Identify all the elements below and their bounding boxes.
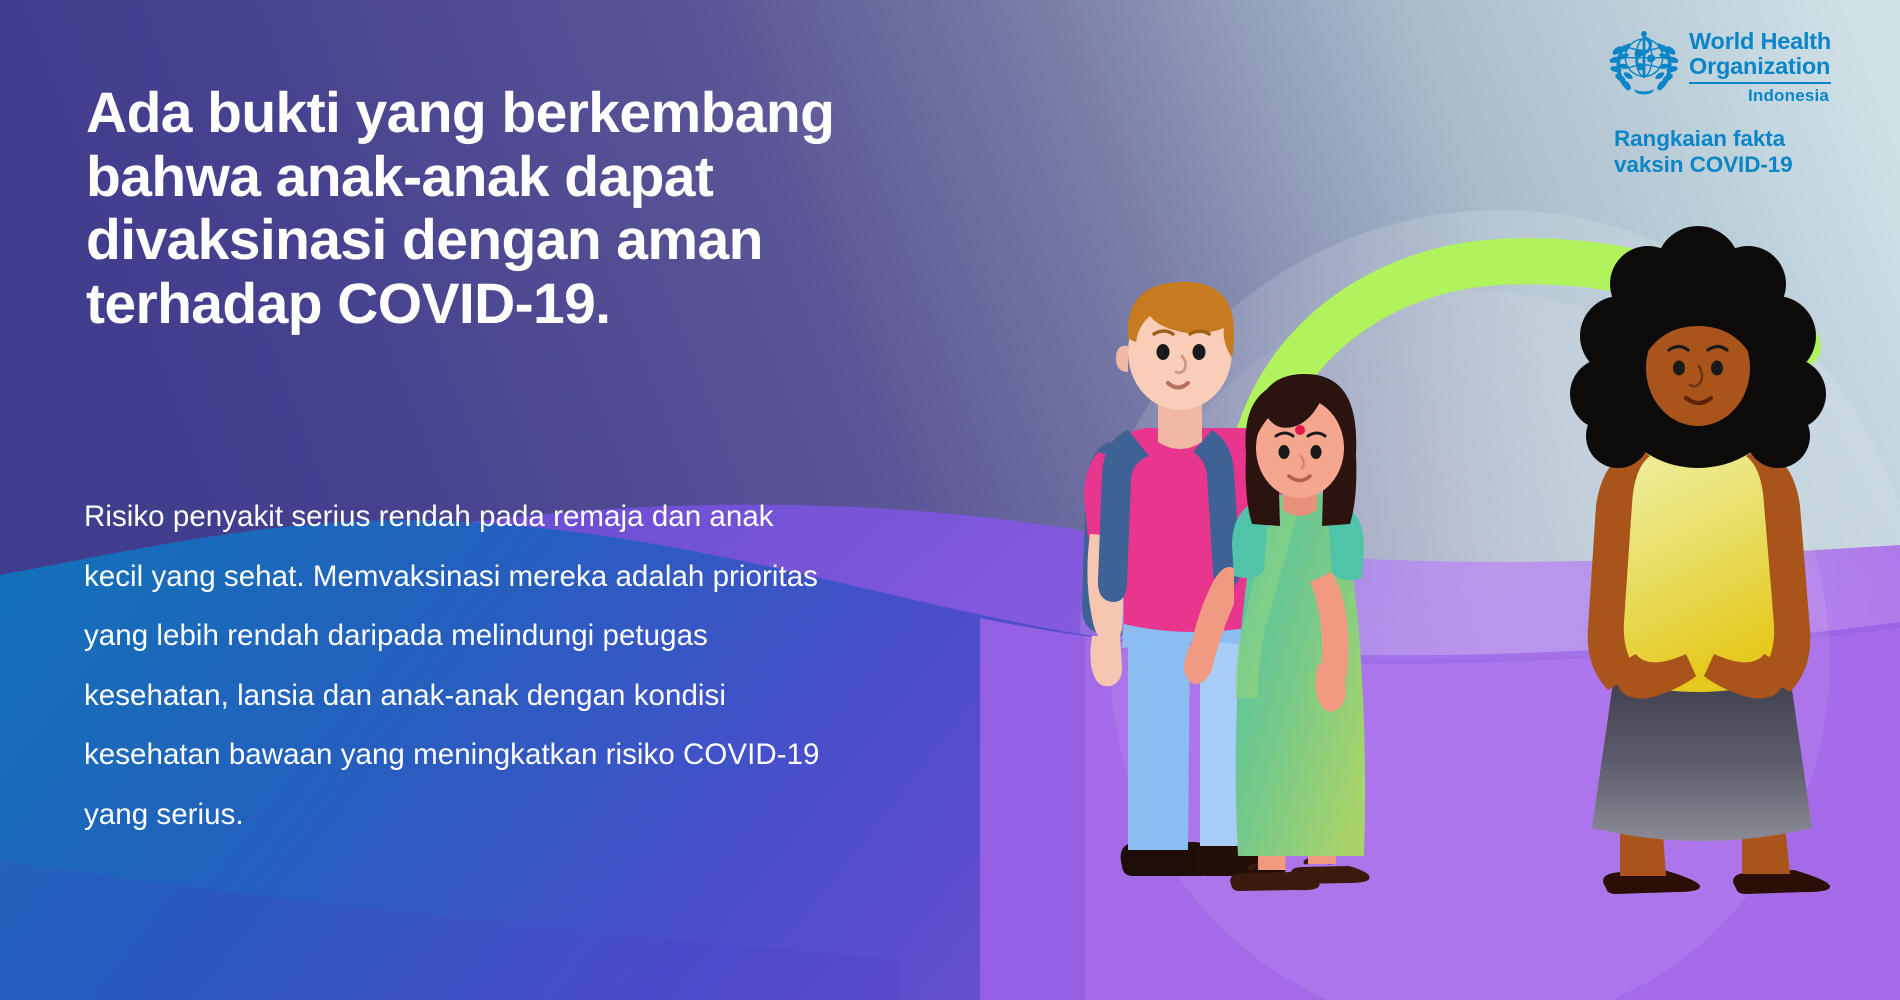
body-paragraph: Risiko penyakit serius rendah pada remaj…	[84, 487, 964, 844]
woman-top	[1620, 432, 1776, 692]
girl-bindi	[1295, 425, 1305, 435]
who-logo-row: World Health Organization Indonesia	[1608, 26, 1878, 106]
who-emblem-icon	[1608, 26, 1680, 98]
page-title: Ada bukti yang berkembang bahwa anak-ana…	[86, 82, 946, 336]
girl-eye-left	[1279, 445, 1290, 459]
fact-series-label: Rangkaian fakta vaksin COVID-19	[1608, 126, 1878, 178]
poster-canvas: Ada bukti yang berkembang bahwa anak-ana…	[0, 0, 1900, 1000]
figure-woman	[1570, 226, 1830, 894]
who-wordmark: World Health Organization Indonesia	[1689, 26, 1831, 106]
girl-sandal-right	[1291, 866, 1370, 884]
who-org-line2: Organization	[1689, 54, 1831, 79]
who-divider	[1689, 82, 1831, 84]
boy-jeans-left	[1128, 640, 1190, 850]
boy-hand-left	[1090, 636, 1122, 686]
girl-eye-right	[1311, 445, 1322, 459]
boy-eye-right	[1193, 344, 1206, 360]
who-org-line1: World Health	[1689, 29, 1831, 54]
who-logo-block: World Health Organization Indonesia Rang…	[1608, 26, 1878, 178]
boy-ear	[1116, 346, 1128, 372]
woman-eye-left	[1673, 361, 1685, 376]
who-country-label: Indonesia	[1689, 86, 1831, 106]
boy-eye-left	[1157, 344, 1170, 360]
woman-eye-right	[1711, 361, 1723, 376]
